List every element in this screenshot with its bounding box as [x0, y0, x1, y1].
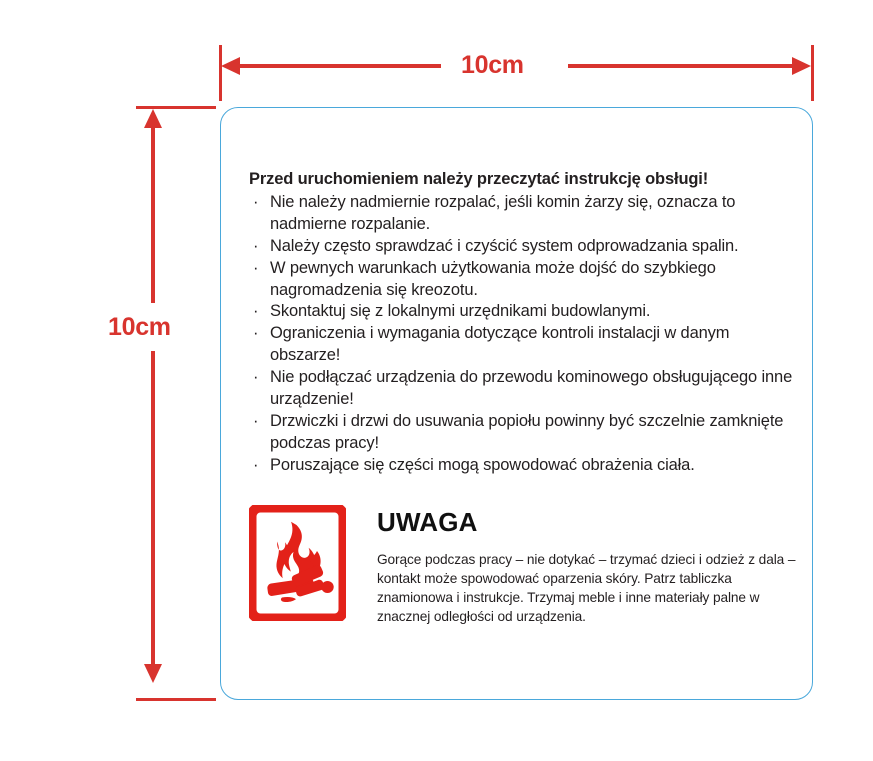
- instruction-bullet-item: ·Poruszające się części mogą spowodować …: [249, 455, 794, 477]
- dimension-shaft-bottom: [151, 351, 155, 665]
- height-dimension-label: 10cm: [108, 315, 171, 340]
- instruction-content: Przed uruchomieniem należy przeczytać in…: [249, 169, 794, 477]
- instruction-bullet-text: Poruszające się części mogą spowodować o…: [270, 456, 695, 474]
- width-dimension-label: 10cm: [461, 53, 524, 78]
- bullet-dot-icon: ·: [253, 192, 258, 214]
- warning-title: UWAGA: [377, 509, 798, 535]
- instruction-bullet-text: W pewnych warunkach użytkowania może doj…: [270, 259, 716, 299]
- bullet-dot-icon: ·: [253, 411, 258, 433]
- instruction-bullet-text: Należy często sprawdzać i czyścić system…: [270, 237, 738, 255]
- dimension-shaft-left: [239, 64, 441, 68]
- instruction-bullet-text: Drzwiczki i drzwi do usuwania popiołu po…: [270, 412, 783, 452]
- dimension-arrow-down: [144, 664, 162, 683]
- warning-body: Gorące podczas pracy – nie dotykać – trz…: [377, 550, 798, 626]
- instruction-bullet-text: Ograniczenia i wymagania dotyczące kontr…: [270, 324, 729, 364]
- open-flame-pictogram-icon: [249, 505, 346, 621]
- bullet-dot-icon: ·: [253, 236, 258, 258]
- bullet-dot-icon: ·: [253, 301, 258, 323]
- dimension-arrow-up: [144, 109, 162, 128]
- dimension-shaft-top: [151, 127, 155, 303]
- dimension-extension-line-right: [811, 45, 814, 101]
- instruction-heading: Przed uruchomieniem należy przeczytać in…: [249, 169, 794, 191]
- instruction-bullet-list: ·Nie należy nadmiernie rozpalać, jeśli k…: [249, 192, 794, 477]
- bullet-dot-icon: ·: [253, 323, 258, 345]
- instruction-bullet-text: Nie należy nadmiernie rozpalać, jeśli ko…: [270, 193, 735, 233]
- dimension-extension-line-bottom: [136, 698, 216, 701]
- dimension-arrow-left: [221, 57, 240, 75]
- dimension-shaft-right: [568, 64, 793, 68]
- instruction-bullet-item: ·Skontaktuj się z lokalnymi urzędnikami …: [249, 301, 794, 323]
- instruction-bullet-item: ·W pewnych warunkach użytkowania może do…: [249, 258, 794, 302]
- dimension-arrow-right: [792, 57, 811, 75]
- warning-block: UWAGA Gorące podczas pracy – nie dotykać…: [249, 505, 798, 626]
- instruction-bullet-item: ·Należy często sprawdzać i czyścić syste…: [249, 236, 794, 258]
- bullet-dot-icon: ·: [253, 367, 258, 389]
- instruction-label-card: Przed uruchomieniem należy przeczytać in…: [220, 107, 813, 700]
- instruction-bullet-item: ·Nie należy nadmiernie rozpalać, jeśli k…: [249, 192, 794, 236]
- label-diagram-canvas: 10cm 10cm Przed uruchomieniem należy prz…: [0, 0, 873, 761]
- bullet-dot-icon: ·: [253, 455, 258, 477]
- instruction-bullet-text: Skontaktuj się z lokalnymi urzędnikami b…: [270, 302, 650, 320]
- instruction-bullet-text: Nie podłączać urządzenia do przewodu kom…: [270, 368, 792, 408]
- instruction-bullet-item: ·Ograniczenia i wymagania dotyczące kont…: [249, 323, 794, 367]
- bullet-dot-icon: ·: [253, 258, 258, 280]
- instruction-bullet-item: ·Drzwiczki i drzwi do usuwania popiołu p…: [249, 411, 794, 455]
- warning-text-column: UWAGA Gorące podczas pracy – nie dotykać…: [377, 505, 798, 626]
- instruction-bullet-item: ·Nie podłączać urządzenia do przewodu ko…: [249, 367, 794, 411]
